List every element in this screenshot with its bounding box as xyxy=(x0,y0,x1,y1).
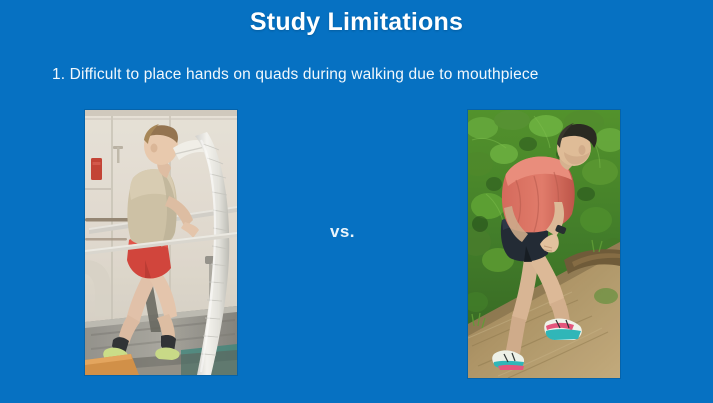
lab-treadmill-illustration xyxy=(85,110,237,375)
presentation-slide: Study Limitations 1. Difficult to place … xyxy=(0,0,713,403)
limitation-bullet-1: 1. Difficult to place hands on quads dur… xyxy=(52,66,539,84)
outdoor-trail-illustration xyxy=(468,110,620,378)
page-title: Study Limitations xyxy=(0,8,713,37)
lab-treadmill-photo xyxy=(85,110,237,375)
comparison-label: vs. xyxy=(330,222,355,242)
outdoor-trail-photo xyxy=(468,110,620,378)
